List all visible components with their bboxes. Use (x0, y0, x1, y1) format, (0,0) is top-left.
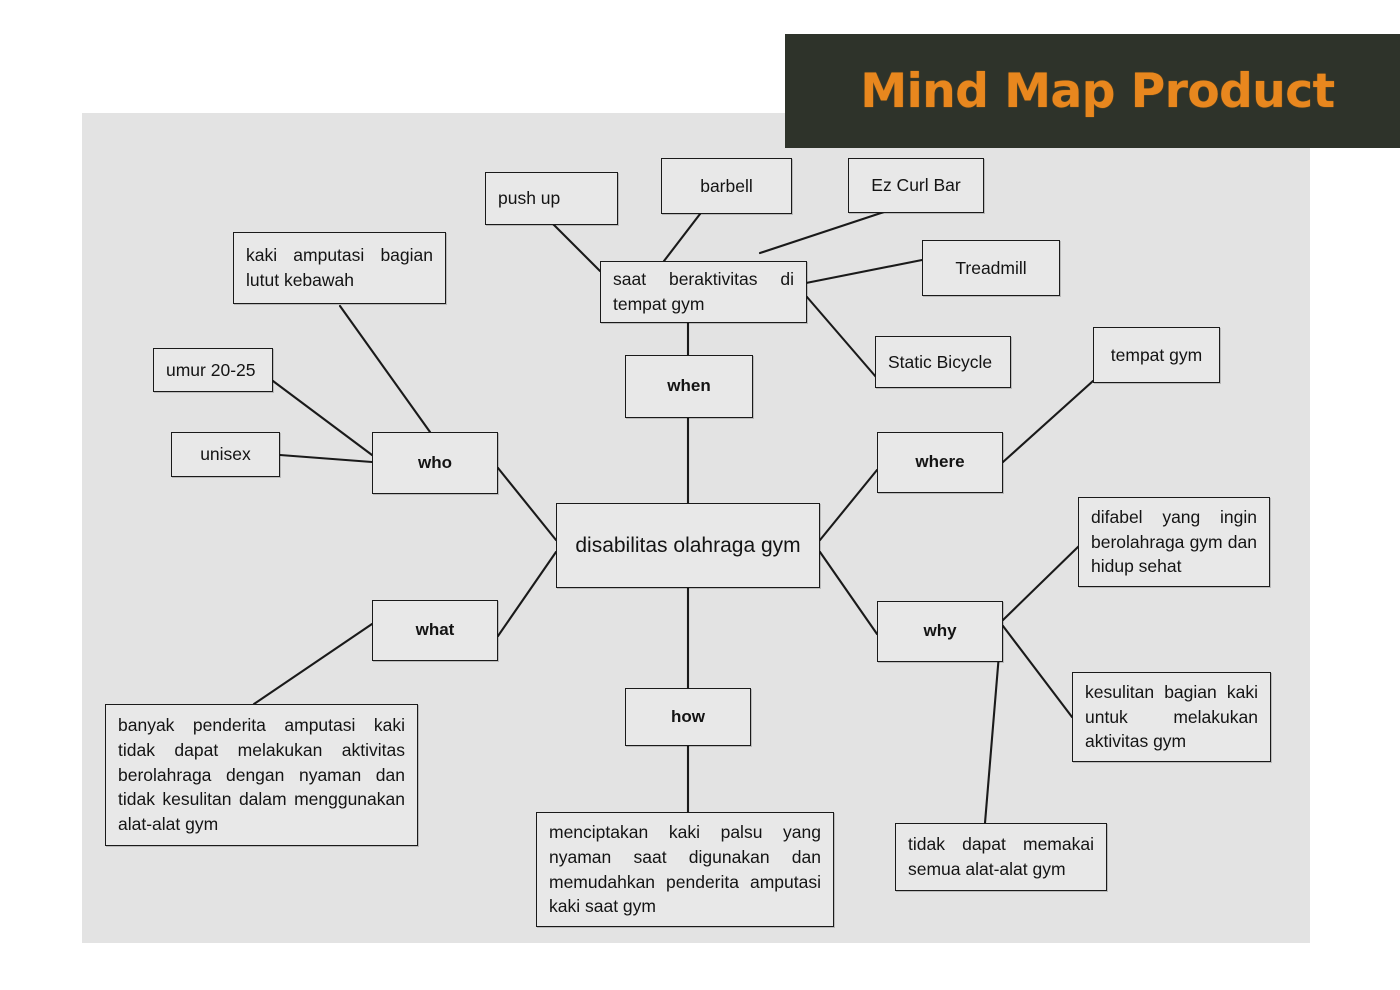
node-barbell[interactable]: barbell (661, 158, 792, 214)
node-unisex-label: unisex (184, 442, 267, 467)
node-static-bicycle[interactable]: Static Bicycle (875, 336, 1011, 388)
node-saat-beraktivitas-label: saat beraktivitas di tempat gym (613, 267, 794, 317)
node-treadmill-label: Treadmill (935, 256, 1047, 281)
node-branch-who-label: who (385, 451, 485, 475)
node-what-detail[interactable]: banyak penderita amputasi kaki tidak dap… (105, 704, 418, 846)
node-branch-when[interactable]: when (625, 355, 753, 418)
node-branch-why[interactable]: why (877, 601, 1003, 662)
node-branch-where-label: where (890, 450, 990, 474)
node-ez-curl-bar[interactable]: Ez Curl Bar (848, 158, 984, 213)
node-branch-where[interactable]: where (877, 432, 1003, 493)
node-branch-when-label: when (638, 374, 740, 398)
page-title: Mind Map Product (860, 64, 1334, 119)
node-umur-label: umur 20-25 (166, 358, 260, 383)
node-tidak-dapat[interactable]: tidak dapat memakai semua alat-alat gym (895, 823, 1107, 891)
node-push-up-label: push up (498, 186, 605, 211)
node-treadmill[interactable]: Treadmill (922, 240, 1060, 296)
node-ez-curl-bar-label: Ez Curl Bar (861, 173, 971, 198)
node-branch-how-label: how (638, 705, 738, 729)
node-tempat-gym-label: tempat gym (1106, 343, 1207, 368)
node-branch-why-label: why (890, 619, 990, 643)
node-tempat-gym[interactable]: tempat gym (1093, 327, 1220, 383)
node-push-up[interactable]: push up (485, 172, 618, 225)
node-unisex[interactable]: unisex (171, 432, 280, 477)
node-difabel-label: difabel yang ingin berolahraga gym dan h… (1091, 505, 1257, 580)
node-branch-who[interactable]: who (372, 432, 498, 494)
node-center[interactable]: disabilitas olahraga gym (556, 503, 820, 588)
node-difabel[interactable]: difabel yang ingin berolahraga gym dan h… (1078, 497, 1270, 587)
node-what-detail-label: banyak penderita amputasi kaki tidak dap… (118, 713, 405, 837)
node-tidak-dapat-label: tidak dapat memakai semua alat-alat gym (908, 832, 1094, 882)
node-static-bicycle-label: Static Bicycle (888, 350, 998, 375)
node-kaki-amputasi-label: kaki amputasi bagian lutut kebawah (246, 243, 433, 293)
node-umur[interactable]: umur 20-25 (153, 348, 273, 392)
node-how-detail[interactable]: menciptakan kaki palsu yang nyaman saat … (536, 812, 834, 927)
node-barbell-label: barbell (674, 174, 779, 199)
node-kaki-amputasi[interactable]: kaki amputasi bagian lutut kebawah (233, 232, 446, 304)
node-branch-what[interactable]: what (372, 600, 498, 661)
node-branch-what-label: what (385, 618, 485, 642)
node-saat-beraktivitas[interactable]: saat beraktivitas di tempat gym (600, 261, 807, 323)
node-center-label: disabilitas olahraga gym (571, 532, 805, 559)
node-kesulitan-label: kesulitan bagian kaki untuk melakukan ak… (1085, 680, 1258, 755)
title-band: Mind Map Product (785, 34, 1400, 148)
node-kesulitan[interactable]: kesulitan bagian kaki untuk melakukan ak… (1072, 672, 1271, 762)
node-branch-how[interactable]: how (625, 688, 751, 746)
node-how-detail-label: menciptakan kaki palsu yang nyaman saat … (549, 820, 821, 919)
